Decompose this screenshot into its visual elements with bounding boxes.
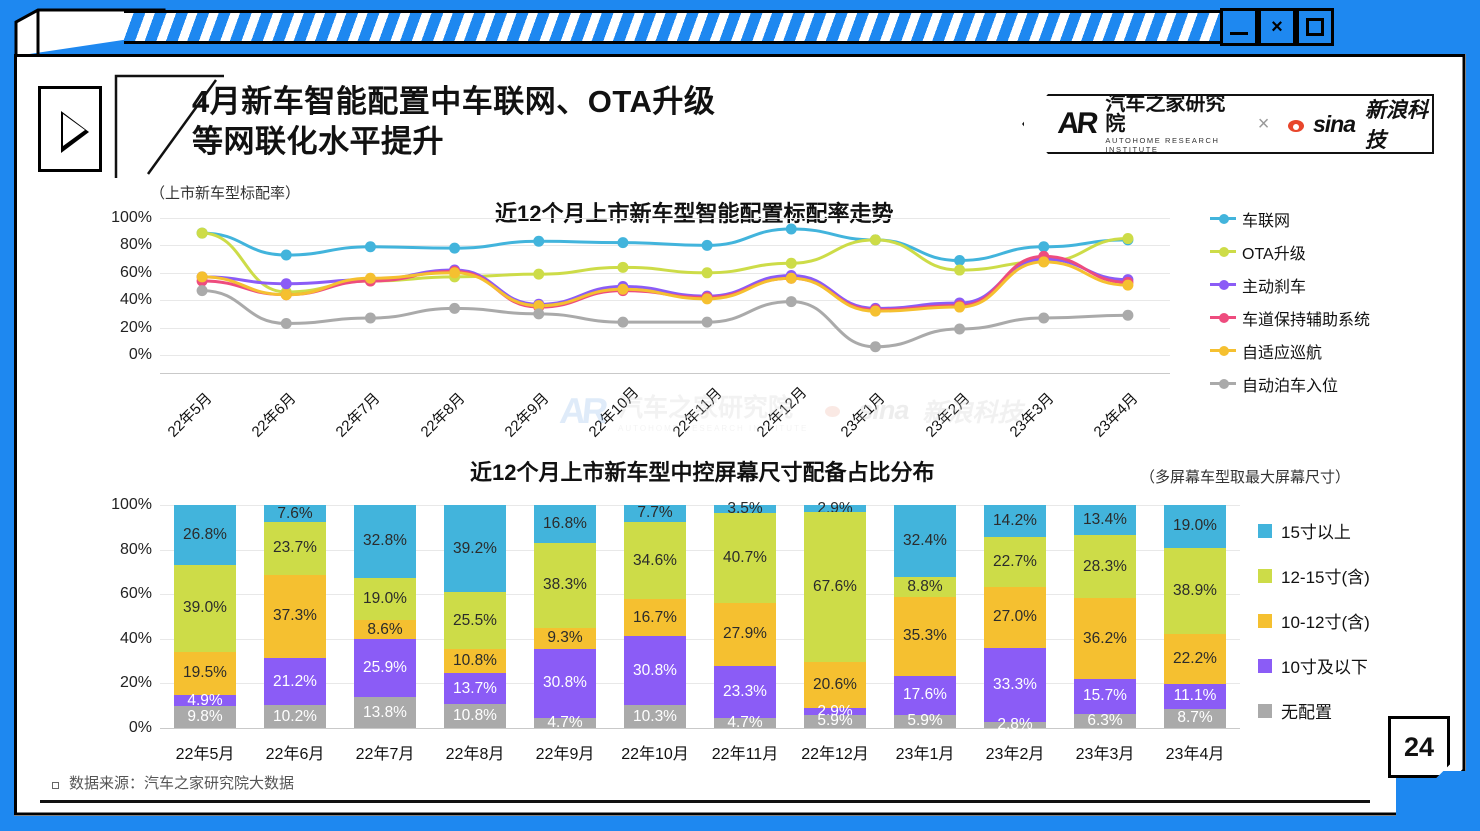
bar-column[interactable]: 7.6%23.7%37.3%21.2%10.2%22年6月	[264, 505, 326, 728]
bar-segment-label: 23.7%	[273, 539, 317, 557]
line-legend-item-车道保持辅助系统[interactable]: 车道保持辅助系统	[1210, 301, 1440, 334]
line-chart-axis-note: （上市新车型标配率）	[150, 182, 300, 203]
bar-segment: 39.2%	[444, 505, 506, 592]
bar-segment-label: 7.6%	[277, 505, 312, 523]
line-data-point	[449, 303, 460, 314]
line-y-tick: 80%	[120, 236, 152, 254]
bar-legend-label: 12-15寸(含)	[1281, 563, 1370, 588]
bar-segment-label: 19.0%	[363, 590, 407, 608]
line-y-tick: 0%	[129, 346, 152, 364]
bar-segment-label: 40.7%	[723, 549, 767, 567]
line-data-point	[365, 273, 376, 284]
bar-segment: 17.6%	[894, 676, 956, 715]
line-chart-plot: 0%20%40%60%80%100%22年5月22年6月22年7月22年8月22…	[160, 218, 1170, 355]
bar-segment: 10.3%	[624, 705, 686, 728]
footer-source-text: 数据来源：汽车之家研究院大数据	[69, 772, 294, 793]
page-number: 24	[1388, 716, 1450, 778]
bar-segment-label: 26.8%	[183, 526, 227, 544]
line-chart-legend: 车联网OTA升级主动刹车车道保持辅助系统自适应巡航自动泊车入位	[1210, 202, 1440, 400]
bar-segment: 36.2%	[1074, 598, 1136, 679]
bar-segment-label: 4.7%	[727, 714, 762, 732]
bar-segment-label: 19.5%	[183, 664, 227, 682]
bar-segment-label: 9.8%	[187, 708, 222, 726]
bar-segment: 34.6%	[624, 522, 686, 599]
bar-segment: 13.7%	[444, 673, 506, 704]
bar-segment: 10.8%	[444, 649, 506, 673]
bar-segment-label: 11.1%	[1174, 687, 1217, 705]
line-legend-label: 自动泊车入位	[1242, 372, 1338, 396]
bar-segment-label: 2.8%	[997, 716, 1032, 734]
bar-segment: 2.8%	[984, 722, 1046, 728]
bar-segment: 37.3%	[264, 575, 326, 658]
legend-line-swatch	[1210, 382, 1236, 385]
page-title-line2: 等网联化水平提升	[192, 122, 892, 162]
bar-y-tick: 0%	[129, 719, 152, 737]
legend-color-swatch	[1258, 704, 1272, 718]
bar-segment-label: 38.3%	[543, 576, 587, 594]
bar-legend-item-10寸及以下[interactable]: 10寸及以下	[1258, 643, 1458, 688]
line-data-point	[870, 341, 881, 352]
bar-segment: 38.3%	[534, 543, 596, 628]
bar-segment: 10.2%	[264, 705, 326, 728]
bar-segment-label: 10.3%	[633, 708, 677, 726]
bar-segment: 13.4%	[1074, 505, 1136, 535]
footer-bullet-icon	[52, 782, 59, 789]
footer-divider	[40, 800, 1370, 803]
bar-segment-label: 25.5%	[453, 612, 497, 630]
line-series-自动泊车入位	[202, 291, 1128, 347]
line-data-point	[365, 241, 376, 252]
bar-column[interactable]: 13.4%28.3%36.2%15.7%6.3%23年3月	[1074, 505, 1136, 728]
legend-color-swatch	[1258, 524, 1272, 538]
bar-segment-label: 32.4%	[903, 532, 947, 550]
legend-line-swatch	[1210, 316, 1236, 319]
line-data-point	[1038, 256, 1049, 267]
line-legend-label: 主动刹车	[1242, 273, 1306, 297]
bar-segment-label: 30.8%	[633, 662, 677, 680]
line-legend-label: 车道保持辅助系统	[1242, 306, 1370, 330]
line-data-point	[1038, 313, 1049, 324]
line-data-point	[702, 240, 713, 251]
bar-legend-label: 10寸及以下	[1281, 653, 1368, 678]
bar-segment: 14.2%	[984, 505, 1046, 537]
bar-segment-label: 35.3%	[903, 627, 947, 645]
bar-segment: 38.9%	[1164, 548, 1226, 635]
bar-segment: 21.2%	[264, 658, 326, 705]
bar-segment: 6.3%	[1074, 714, 1136, 728]
line-data-point	[870, 234, 881, 245]
bar-segment: 4.9%	[174, 695, 236, 706]
line-data-point	[281, 289, 292, 300]
bar-segment: 25.9%	[354, 639, 416, 697]
bar-segment: 35.3%	[894, 597, 956, 676]
bar-segment-label: 8.8%	[907, 578, 942, 596]
line-data-point	[786, 223, 797, 234]
bar-legend-item-12-15寸(含)[interactable]: 12-15寸(含)	[1258, 553, 1458, 598]
bar-segment: 67.6%	[804, 512, 866, 663]
bar-column[interactable]: 16.8%38.3%9.3%30.8%4.7%22年9月	[534, 505, 596, 728]
line-legend-item-车联网[interactable]: 车联网	[1210, 202, 1440, 235]
bar-segment-label: 17.6%	[903, 686, 947, 704]
line-data-point	[954, 265, 965, 276]
bar-segment-label: 16.7%	[633, 609, 677, 627]
bar-segment-label: 10.8%	[453, 652, 497, 670]
bar-chart-plot: 0%20%40%60%80%100%26.8%39.0%19.5%4.9%9.8…	[160, 505, 1240, 728]
bar-segment-label: 16.8%	[543, 515, 587, 533]
line-legend-label: 自适应巡航	[1242, 339, 1322, 363]
legend-dot-icon	[1219, 247, 1229, 257]
bar-chart-legend: 15寸以上12-15寸(含)10-12寸(含)10寸及以下无配置	[1258, 508, 1458, 733]
line-y-tick: 40%	[120, 291, 152, 309]
bar-segment-label: 7.7%	[637, 504, 672, 522]
bar-segment: 32.4%	[894, 505, 956, 577]
line-data-point	[281, 318, 292, 329]
legend-line-swatch	[1210, 250, 1236, 253]
bar-segment: 19.0%	[354, 578, 416, 620]
bar-segment: 26.8%	[174, 505, 236, 565]
bar-segment: 20.6%	[804, 662, 866, 708]
legend-dot-icon	[1219, 214, 1229, 224]
line-y-tick: 20%	[120, 319, 152, 337]
maximize-button[interactable]	[1296, 8, 1334, 46]
bar-segment: 5.9%	[804, 715, 866, 728]
bar-segment: 30.8%	[534, 649, 596, 718]
autohome-ar-mark: AR	[1056, 107, 1097, 141]
bar-segment: 22.2%	[1164, 634, 1226, 684]
slide-root: × 4月新车智能配置中车联网、OTA升级 等网联化水平提升 AR 汽车之家研究院…	[0, 0, 1480, 831]
bar-chart-note: （多屏幕车型取最大屏幕尺寸）	[1140, 466, 1350, 487]
bar-segment: 15.7%	[1074, 679, 1136, 714]
bar-segment: 33.3%	[984, 648, 1046, 722]
bar-segment: 40.7%	[714, 513, 776, 604]
bar-segment: 23.7%	[264, 522, 326, 575]
bar-segment: 3.5%	[714, 505, 776, 513]
bar-column[interactable]: 26.8%39.0%19.5%4.9%9.8%22年5月	[174, 505, 236, 728]
line-chart-section: （上市新车型标配率） 近12个月上市新车型智能配置标配率走势 0%20%40%6…	[150, 182, 1450, 432]
page-title: 4月新车智能配置中车联网、OTA升级 等网联化水平提升	[192, 82, 892, 161]
sina-cn-name: 新浪科技	[1365, 94, 1432, 154]
bar-column[interactable]: 2.9%67.6%20.6%2.9%5.9%22年12月	[804, 505, 866, 728]
brand-logo-bar: AR 汽车之家研究院 AUTOHOME RESEARCH INSTITUTE ×…	[1022, 94, 1434, 154]
bar-legend-label: 10-12寸(含)	[1281, 608, 1370, 633]
bar-segment: 19.5%	[174, 652, 236, 695]
bar-segment: 7.7%	[624, 505, 686, 522]
bar-y-tick: 80%	[120, 541, 152, 559]
bar-segment-label: 30.8%	[543, 674, 587, 692]
bar-segment: 25.5%	[444, 592, 506, 649]
line-legend-item-自动泊车入位[interactable]: 自动泊车入位	[1210, 367, 1440, 400]
line-series-group	[160, 218, 1170, 355]
line-data-point	[786, 258, 797, 269]
line-data-point	[197, 228, 208, 239]
bar-segment: 13.8%	[354, 697, 416, 728]
legend-line-swatch	[1210, 217, 1236, 220]
legend-dot-icon	[1219, 379, 1229, 389]
line-x-axis	[160, 373, 1170, 374]
bar-segment-label: 27.0%	[993, 608, 1037, 626]
play-button-decoration[interactable]	[38, 86, 102, 172]
bar-segment: 19.0%	[1164, 505, 1226, 547]
bar-segment-label: 23.3%	[723, 683, 767, 701]
bar-segment-label: 39.2%	[453, 540, 497, 558]
bar-chart-title: 近12个月上市新车型中控屏幕尺寸配备占比分布	[470, 455, 934, 487]
bar-legend-label: 15寸以上	[1281, 518, 1351, 543]
bar-segment-label: 19.0%	[1173, 517, 1217, 535]
line-data-point	[617, 284, 628, 295]
legend-color-swatch	[1258, 659, 1272, 673]
line-legend-label: 车联网	[1242, 207, 1290, 231]
line-data-point	[617, 237, 628, 248]
line-data-point	[533, 236, 544, 247]
bar-segment: 32.8%	[354, 505, 416, 578]
bar-segment-label: 8.7%	[1177, 709, 1212, 727]
stripe-decoration	[124, 10, 1224, 44]
line-legend-item-自适应巡航[interactable]: 自适应巡航	[1210, 334, 1440, 367]
line-data-point	[449, 267, 460, 278]
legend-dot-icon	[1219, 346, 1229, 356]
bar-segment: 27.9%	[714, 603, 776, 665]
bar-segment-label: 27.9%	[723, 625, 767, 643]
bar-segment-label: 10.8%	[453, 707, 497, 725]
line-y-tick: 60%	[120, 264, 152, 282]
bar-segment: 5.9%	[894, 715, 956, 728]
line-data-point	[702, 267, 713, 278]
sina-weibo-eye-icon	[1285, 115, 1303, 133]
line-data-point	[1122, 233, 1133, 244]
line-legend-item-主动刹车[interactable]: 主动刹车	[1210, 268, 1440, 301]
line-data-point	[533, 308, 544, 319]
legend-dot-icon	[1219, 280, 1229, 290]
bar-column[interactable]: 32.4%8.8%35.3%17.6%5.9%23年1月	[894, 505, 956, 728]
footer-source: 数据来源：汽车之家研究院大数据	[52, 772, 294, 793]
bar-segment: 10.8%	[444, 704, 506, 728]
bar-segment: 8.8%	[894, 577, 956, 597]
bar-segment: 16.8%	[534, 505, 596, 542]
bar-segment-label: 5.9%	[907, 712, 942, 730]
logo-cross-icon: ×	[1258, 113, 1270, 136]
bar-segment: 28.3%	[1074, 535, 1136, 598]
bar-legend-label: 无配置	[1281, 698, 1332, 723]
line-data-point	[281, 249, 292, 260]
line-data-point	[786, 273, 797, 284]
bar-segment-label: 9.3%	[547, 629, 582, 647]
bar-segment-label: 36.2%	[1083, 630, 1127, 648]
close-glyph: ×	[1271, 17, 1283, 37]
line-data-point	[954, 255, 965, 266]
bar-column[interactable]: 14.2%22.7%27.0%33.3%2.8%23年2月	[984, 505, 1046, 728]
bar-segment-label: 13.4%	[1083, 511, 1127, 529]
bar-segment-label: 22.2%	[1173, 650, 1217, 668]
line-data-point	[617, 317, 628, 328]
bar-segment: 22.7%	[984, 537, 1046, 588]
line-data-point	[449, 243, 460, 254]
bar-column[interactable]: 7.7%34.6%16.7%30.8%10.3%22年10月	[624, 505, 686, 728]
sina-wordmark: sina	[1313, 111, 1355, 138]
bar-segment-label: 25.9%	[363, 659, 407, 677]
bar-segment-label: 4.7%	[547, 714, 582, 732]
line-data-point	[197, 271, 208, 282]
bar-segment-label: 15.7%	[1083, 687, 1127, 705]
autohome-cn-name: 汽车之家研究院	[1105, 94, 1241, 134]
bar-x-tick: 23年4月	[1140, 740, 1250, 764]
line-data-point	[1038, 241, 1049, 252]
bar-y-tick: 60%	[120, 585, 152, 603]
line-data-point	[197, 285, 208, 296]
bar-y-tick: 100%	[111, 496, 152, 514]
line-data-point	[702, 317, 713, 328]
page-title-line1: 4月新车智能配置中车联网、OTA升级	[192, 82, 892, 122]
bar-segment-label: 21.2%	[273, 673, 317, 691]
bar-y-tick: 40%	[120, 630, 152, 648]
line-y-tick: 100%	[111, 209, 152, 227]
bar-segment-label: 28.3%	[1083, 558, 1127, 576]
autohome-name-block: 汽车之家研究院 AUTOHOME RESEARCH INSTITUTE	[1105, 94, 1241, 154]
bar-segment: 4.7%	[534, 718, 596, 728]
bar-legend-item-10-12寸(含)[interactable]: 10-12寸(含)	[1258, 598, 1458, 643]
bar-segment: 11.1%	[1164, 684, 1226, 709]
bar-segment-label: 67.6%	[813, 578, 857, 596]
autohome-en-name: AUTOHOME RESEARCH INSTITUTE	[1105, 136, 1241, 154]
line-data-point	[954, 302, 965, 313]
line-data-point	[617, 262, 628, 273]
bar-segment-label: 6.3%	[1087, 712, 1122, 730]
legend-line-swatch	[1210, 349, 1236, 352]
bar-segment-label: 20.6%	[813, 676, 857, 694]
line-data-point	[281, 278, 292, 289]
bar-column[interactable]: 19.0%38.9%22.2%11.1%8.7%23年4月	[1164, 505, 1226, 728]
line-data-point	[533, 269, 544, 280]
bar-segment-label: 32.8%	[363, 532, 407, 550]
bar-segment-label: 8.6%	[367, 621, 402, 639]
bar-segment-label: 13.8%	[363, 704, 407, 722]
bar-segment: 7.6%	[264, 505, 326, 522]
bar-segment-label: 37.3%	[273, 607, 317, 625]
bar-segment-label: 13.7%	[453, 680, 497, 698]
bar-segment-label: 10.2%	[273, 708, 317, 726]
bar-segment: 8.6%	[354, 620, 416, 639]
bar-segment-label: 39.0%	[183, 599, 227, 617]
bar-x-axis	[160, 728, 1240, 729]
bar-segment: 9.8%	[174, 706, 236, 728]
bar-segment-label: 22.7%	[993, 553, 1037, 571]
bar-column[interactable]: 3.5%40.7%27.9%23.3%4.7%22年11月	[714, 505, 776, 728]
line-data-point	[870, 306, 881, 317]
line-gridline	[160, 355, 1170, 356]
line-data-point	[702, 293, 713, 304]
play-triangle-inner	[63, 114, 85, 146]
bar-segment-label: 33.3%	[993, 676, 1037, 694]
bar-segment: 39.0%	[174, 565, 236, 652]
legend-color-swatch	[1258, 614, 1272, 628]
bar-segment-label: 34.6%	[633, 552, 677, 570]
line-data-point	[365, 313, 376, 324]
bar-segment: 27.0%	[984, 587, 1046, 647]
bar-segment-label: 38.9%	[1173, 582, 1217, 600]
bar-column[interactable]: 32.8%19.0%8.6%25.9%13.8%22年7月	[354, 505, 416, 728]
bar-segment: 30.8%	[624, 636, 686, 705]
legend-line-swatch	[1210, 283, 1236, 286]
corner-accent	[1396, 771, 1470, 823]
line-series-车联网	[202, 229, 1128, 261]
line-data-point	[1122, 310, 1133, 321]
line-data-point	[1122, 280, 1133, 291]
close-icon[interactable]: ×	[1258, 8, 1296, 46]
bar-segment: 9.3%	[534, 628, 596, 649]
line-data-point	[954, 323, 965, 334]
bar-legend-item-15寸以上[interactable]: 15寸以上	[1258, 508, 1458, 553]
line-legend-item-OTA升级[interactable]: OTA升级	[1210, 235, 1440, 268]
bar-segment: 16.7%	[624, 599, 686, 636]
line-data-point	[786, 296, 797, 307]
bar-segment: 23.3%	[714, 666, 776, 718]
bar-chart-section: 0%20%40%60%80%100%26.8%39.0%19.5%4.9%9.8…	[150, 500, 1460, 750]
line-legend-label: OTA升级	[1242, 240, 1306, 264]
bar-column[interactable]: 39.2%25.5%10.8%13.7%10.8%22年8月	[444, 505, 506, 728]
bar-segment: 4.7%	[714, 718, 776, 728]
legend-dot-icon	[1219, 313, 1229, 323]
bar-y-tick: 20%	[120, 674, 152, 692]
minimize-button[interactable]	[1220, 8, 1258, 46]
bar-segment: 8.7%	[1164, 709, 1226, 728]
bar-segment-label: 14.2%	[993, 512, 1037, 530]
bar-segment-label: 5.9%	[817, 712, 852, 730]
legend-color-swatch	[1258, 569, 1272, 583]
